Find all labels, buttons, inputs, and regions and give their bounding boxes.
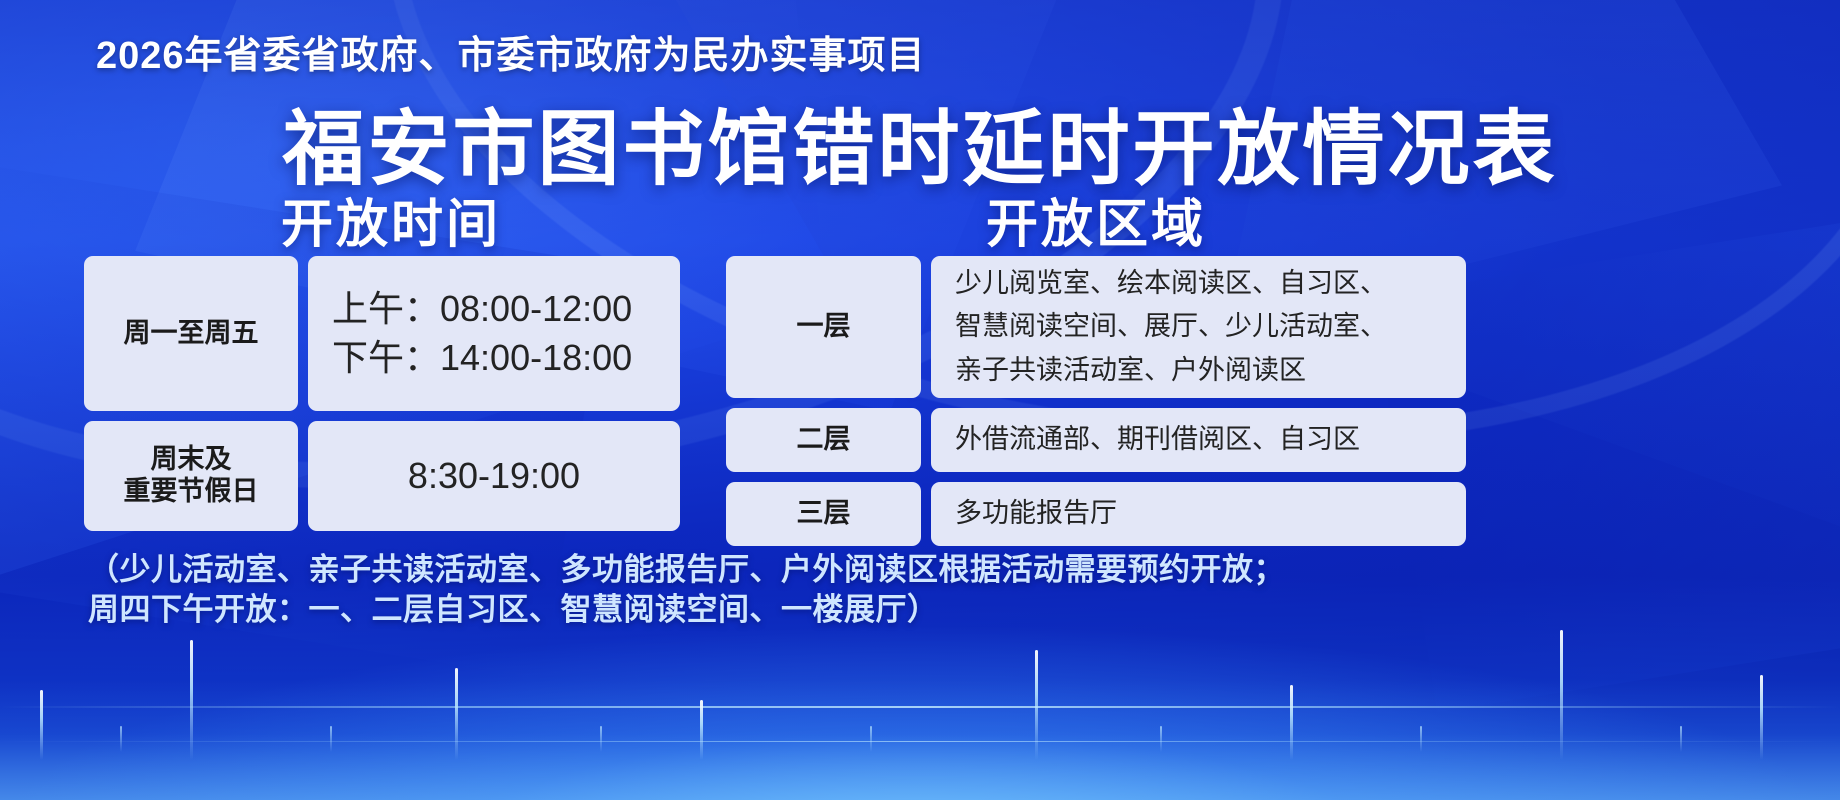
weekend-label-cell: 周末及 重要节假日 [84, 421, 298, 531]
floor-areas-line: 多功能报告厅 [955, 492, 1117, 535]
weekend-label-line2: 重要节假日 [124, 476, 259, 508]
table-row: 一层 少儿阅览室、绘本阅读区、自习区、 智慧阅读空间、展厅、少儿活动室、 亲子共… [726, 256, 1466, 398]
floor-areas-line: 亲子共读活动室、户外阅读区 [955, 349, 1387, 392]
floor-label-1: 一层 [797, 311, 851, 343]
open-time-table: 周一至周五 上午：08:00-12:00 下午：14:00-18:00 周末及 … [84, 256, 680, 531]
floor-areas-cell-2: 外借流通部、期刊借阅区、自习区 [931, 408, 1466, 472]
section-heading-open-time: 开放时间 [96, 182, 686, 257]
footnote-line-2: 周四下午开放：一、二层自习区、智慧阅读空间、一楼展厅） [88, 590, 1488, 630]
floor-label-3: 三层 [797, 498, 851, 530]
table-row: 周末及 重要节假日 8:30-19:00 [84, 421, 680, 531]
weekday-hours-afternoon: 下午：14:00-18:00 [332, 334, 632, 383]
program-kicker: 2026年省委省政府、市委市政府为民办实事项目 [96, 24, 926, 79]
poster-canvas: 2026年省委省政府、市委市政府为民办实事项目 福安市图书馆错时延时开放情况表 … [0, 0, 1840, 800]
weekend-hours: 8:30-19:00 [408, 452, 580, 501]
floor-areas-line: 外借流通部、期刊借阅区、自习区 [955, 418, 1360, 461]
floor-areas-cell-1: 少儿阅览室、绘本阅读区、自习区、 智慧阅读空间、展厅、少儿活动室、 亲子共读活动… [931, 256, 1466, 398]
floor-label-cell-3: 三层 [726, 482, 921, 546]
weekday-label: 周一至周五 [124, 318, 259, 350]
footnote: （少儿活动室、亲子共读活动室、多功能报告厅、户外阅读区根据活动需要预约开放； 周… [88, 550, 1488, 631]
weekday-label-cell: 周一至周五 [84, 256, 298, 411]
table-row: 周一至周五 上午：08:00-12:00 下午：14:00-18:00 [84, 256, 680, 411]
table-row: 三层 多功能报告厅 [726, 482, 1466, 546]
floor-areas-cell-3: 多功能报告厅 [931, 482, 1466, 546]
floor-areas-line: 少儿阅览室、绘本阅读区、自习区、 [955, 262, 1387, 305]
weekend-hours-cell: 8:30-19:00 [308, 421, 680, 531]
section-heading-open-area: 开放区域 [726, 182, 1466, 257]
floor-label-2: 二层 [797, 424, 851, 456]
floor-label-cell-2: 二层 [726, 408, 921, 472]
table-row: 二层 外借流通部、期刊借阅区、自习区 [726, 408, 1466, 472]
poster-content: 2026年省委省政府、市委市政府为民办实事项目 福安市图书馆错时延时开放情况表 … [0, 0, 1840, 800]
open-area-table: 一层 少儿阅览室、绘本阅读区、自习区、 智慧阅读空间、展厅、少儿活动室、 亲子共… [726, 256, 1466, 546]
weekend-label-line1: 周末及 [124, 444, 259, 476]
footnote-line-1: （少儿活动室、亲子共读活动室、多功能报告厅、户外阅读区根据活动需要预约开放； [88, 550, 1488, 590]
weekday-hours-cell: 上午：08:00-12:00 下午：14:00-18:00 [308, 256, 680, 411]
floor-label-cell-1: 一层 [726, 256, 921, 398]
weekday-hours-morning: 上午：08:00-12:00 [332, 285, 632, 334]
floor-areas-line: 智慧阅读空间、展厅、少儿活动室、 [955, 305, 1387, 348]
